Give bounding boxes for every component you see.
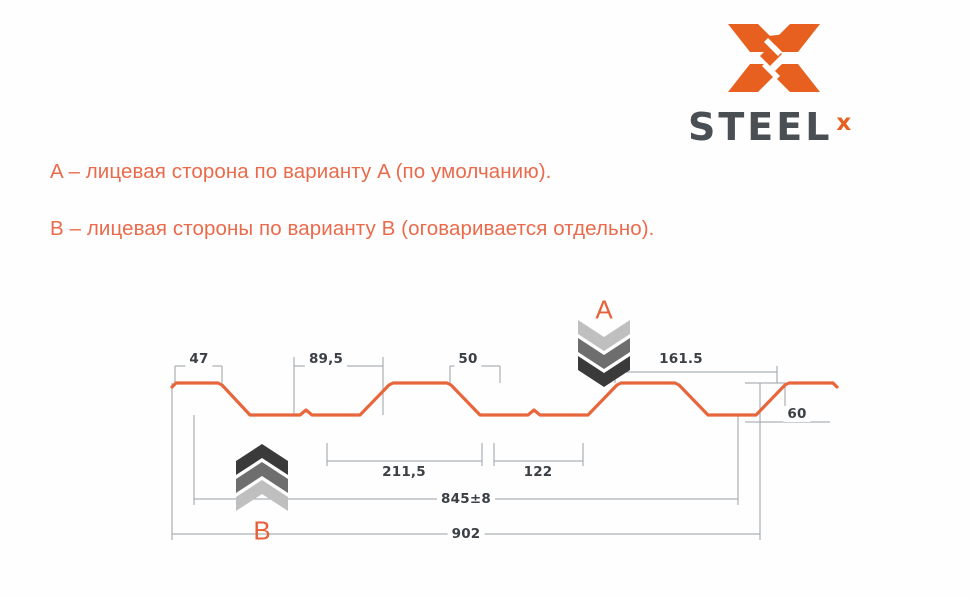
sheet-profile-path	[172, 383, 837, 415]
dim-bottom-valley-span-2: 122	[520, 464, 557, 480]
dim-effective-width: 845±8	[437, 491, 495, 507]
marker-a-chevrons	[578, 320, 630, 387]
marker-a-letter: A	[595, 295, 612, 326]
marker-b-letter: B	[253, 516, 270, 547]
dim-top-right-span: 161.5	[655, 351, 707, 367]
marker-b-chevrons	[236, 444, 288, 511]
dim-top-rib-pitch-1: 89,5	[305, 351, 347, 367]
dim-bottom-valley-span-1: 211,5	[378, 464, 430, 480]
dimension-lines	[172, 357, 830, 540]
dim-top-rib-width: 50	[454, 351, 481, 367]
profile-technical-drawing	[0, 0, 970, 597]
dim-top-crest-width: 47	[185, 351, 212, 367]
dim-profile-height: 60	[783, 406, 810, 422]
dim-overall-width: 902	[448, 526, 485, 542]
